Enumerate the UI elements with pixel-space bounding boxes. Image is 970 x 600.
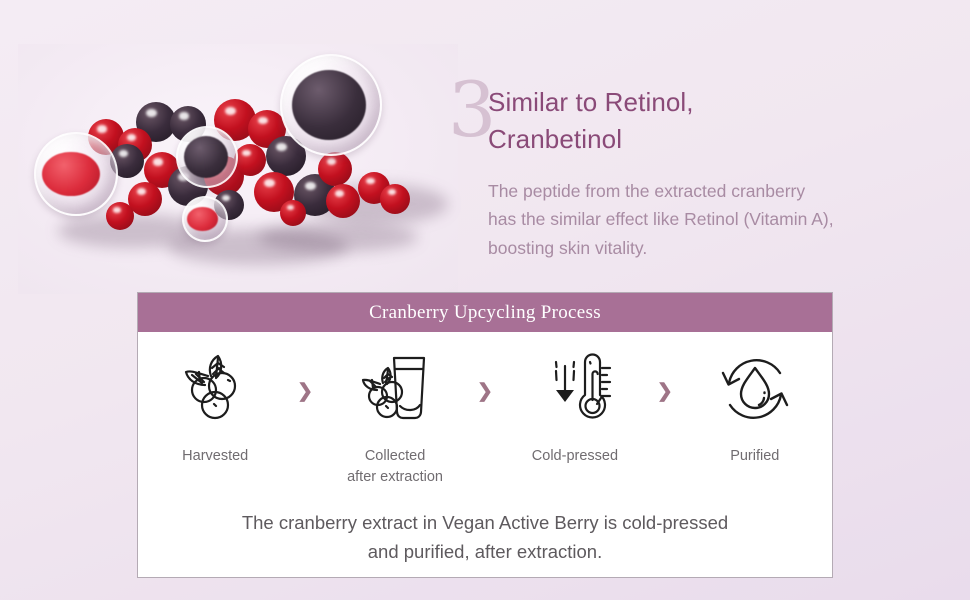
chevron-right-icon: ❯ [297, 380, 313, 403]
step-arrow-2: ❯ [462, 350, 507, 403]
glass-with-berries-icon [358, 350, 432, 428]
step-label-line-1: Harvested [182, 446, 248, 467]
headline-line-2: Cranbetinol [488, 121, 918, 158]
hero-product-photo [18, 44, 458, 294]
body-line-1: The peptide from the extracted cranberry [488, 177, 908, 205]
ad-banner-page: 3 Similar to Retinol, Cranbetinol The pe… [0, 0, 970, 600]
glass-capsule-dark [280, 54, 382, 156]
step-label-line-1: Cold-pressed [532, 446, 618, 467]
photo-shadow [258, 222, 418, 252]
step-label-harvested: Harvested [182, 446, 248, 467]
footer-line-1: The cranberry extract in Vegan Active Be… [178, 509, 792, 538]
process-step-cold-pressed: Cold-pressed [508, 350, 642, 467]
step-label-cold-pressed: Cold-pressed [532, 446, 618, 467]
step-arrow-1: ❯ [282, 350, 327, 403]
step-arrow-3: ❯ [642, 350, 687, 403]
berry-red [326, 184, 360, 218]
step-label-line-1: Purified [730, 446, 779, 467]
process-step-harvested: Harvested [148, 350, 282, 467]
glass-capsule-red [34, 132, 118, 216]
chevron-right-icon: ❯ [477, 380, 493, 403]
headline-line-1: Similar to Retinol, [488, 84, 918, 121]
droplet-recycle-icon [717, 350, 793, 428]
berries-icon [178, 350, 252, 428]
glass-capsule-dark [176, 126, 238, 188]
process-steps-row: Harvested ❯ [138, 332, 832, 487]
process-card-header: Cranberry Upcycling Process [138, 293, 832, 332]
berry-red [234, 144, 266, 176]
berry-red [380, 184, 410, 214]
process-card: Cranberry Upcycling Process [137, 292, 833, 578]
page-title: Similar to Retinol, Cranbetinol [488, 84, 918, 158]
step-label-line-2: after extraction [347, 467, 443, 488]
process-step-purified: Purified [688, 350, 822, 467]
glass-capsule-red [182, 196, 228, 242]
chevron-right-icon: ❯ [657, 380, 673, 403]
body-line-2: has the similar effect like Retinol (Vit… [488, 205, 908, 233]
process-title: Cranberry Upcycling Process [369, 302, 601, 324]
berry-red [106, 202, 134, 230]
footer-line-2: and purified, after extraction. [178, 538, 792, 567]
body-line-3: boosting skin vitality. [488, 234, 908, 262]
berry-red [280, 200, 306, 226]
step-label-purified: Purified [730, 446, 779, 467]
process-step-collected: Collected after extraction [328, 350, 462, 487]
process-footer-text: The cranberry extract in Vegan Active Be… [138, 509, 832, 566]
step-label-line-1: Collected [347, 446, 443, 467]
berry-red [318, 152, 352, 186]
thermometer-cold-icon [538, 350, 612, 428]
body-copy: The peptide from the extracted cranberry… [488, 177, 908, 262]
step-label-collected: Collected after extraction [347, 446, 443, 487]
